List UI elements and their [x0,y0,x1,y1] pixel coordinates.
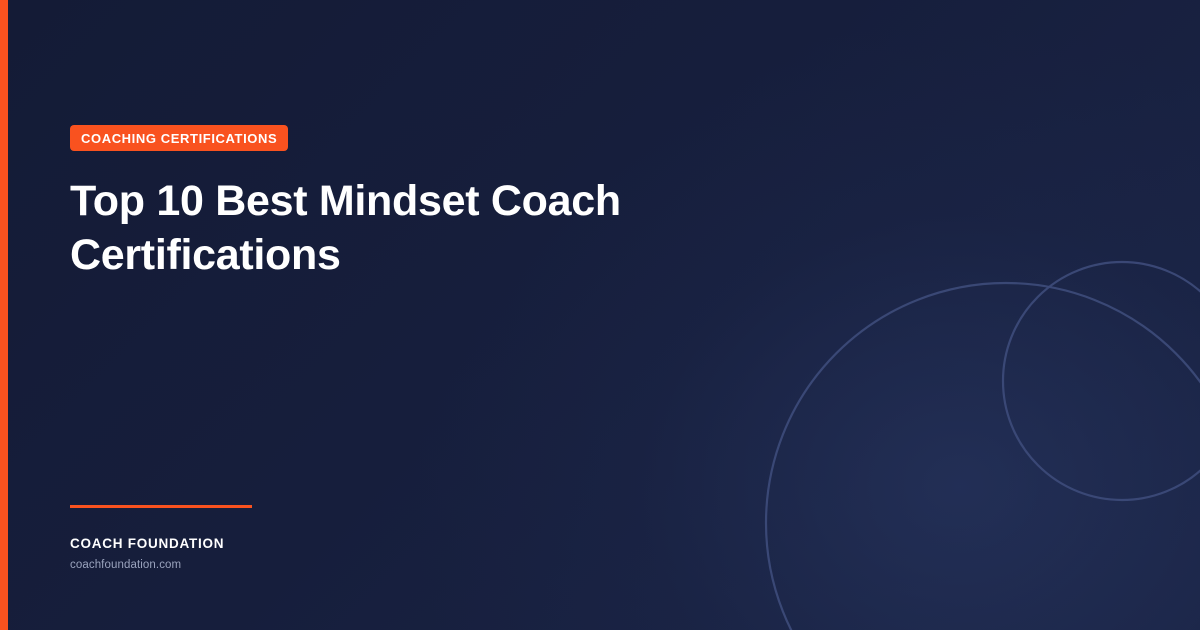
page-title: Top 10 Best Mindset Coach Certifications [70,174,630,282]
brand-url: coachfoundation.com [70,560,470,572]
content-column: COACHING CERTIFICATIONS Top 10 Best Mind… [70,0,770,630]
footer-divider [70,505,252,508]
brand-name: COACH FOUNDATION [70,537,470,551]
share-card: COACHING CERTIFICATIONS Top 10 Best Mind… [0,0,1200,630]
left-accent-bar [0,0,8,630]
category-badge: COACHING CERTIFICATIONS [70,125,288,151]
footer: COACH FOUNDATION coachfoundation.com [70,505,470,571]
large-circle [766,283,1200,630]
small-circle [1003,262,1200,500]
